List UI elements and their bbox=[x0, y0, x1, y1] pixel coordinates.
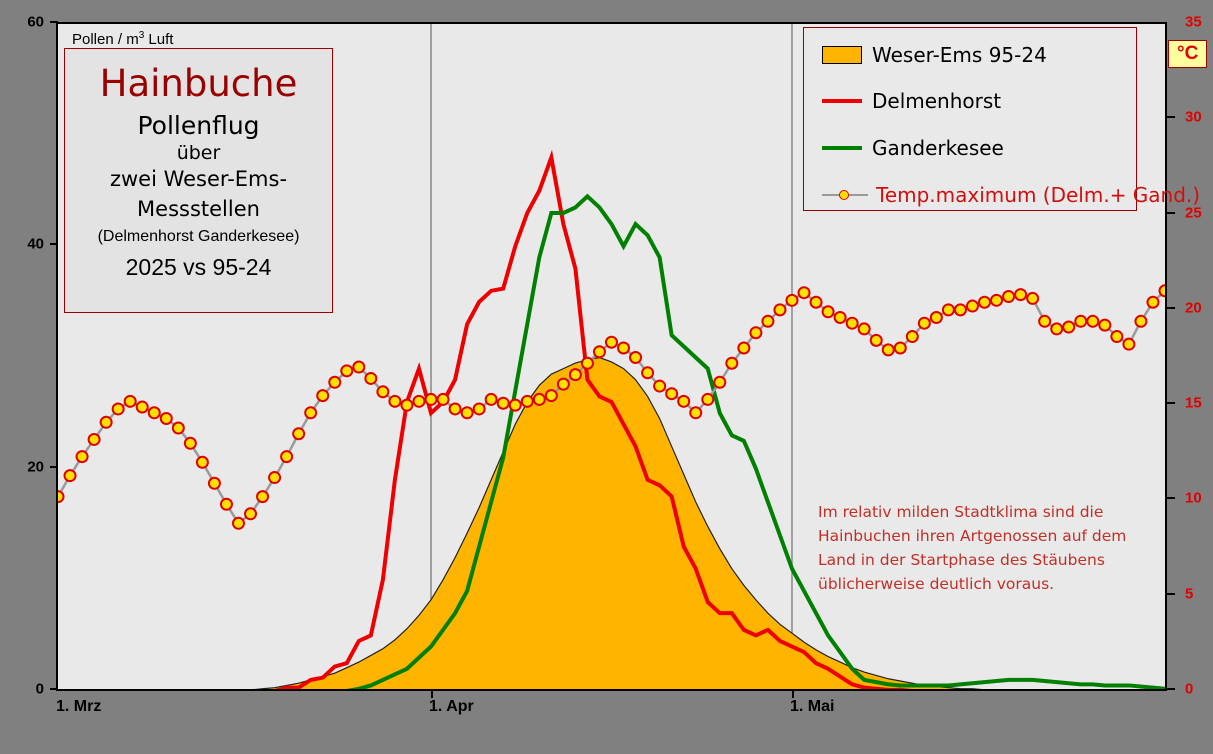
title-box: Hainbuche Pollenflug über zwei Weser-Ems… bbox=[64, 48, 333, 313]
y-axis-left-tick-label: 0 bbox=[36, 681, 44, 698]
title-subline-3: zwei Weser-Ems- bbox=[65, 167, 332, 191]
y-axis-right: 05101520253035 bbox=[1165, 0, 1213, 691]
units-caption: Pollen / m3 Luft bbox=[72, 30, 173, 48]
y-axis-right-tick bbox=[1167, 116, 1175, 118]
y-axis-right-tick bbox=[1167, 593, 1175, 595]
y-axis-right-tick-label: 0 bbox=[1185, 681, 1193, 698]
y-axis-right-tick-label: 10 bbox=[1185, 490, 1202, 507]
y-axis-left-tick-label: 60 bbox=[27, 14, 44, 31]
title-subline-1: Pollenflug bbox=[65, 111, 332, 140]
celsius-unit-badge: °C bbox=[1168, 40, 1207, 68]
y-axis-left-tick bbox=[50, 21, 58, 23]
x-axis-tick-label: 1. Mrz bbox=[56, 698, 101, 716]
legend-item-ganderkesee[interactable]: Ganderkesee bbox=[822, 135, 1004, 161]
y-axis-right-tick bbox=[1167, 688, 1175, 690]
title-subline-2: über bbox=[65, 142, 332, 164]
y-axis-left-tick-label: 40 bbox=[27, 236, 44, 253]
legend-label-weser-ems: Weser-Ems 95-24 bbox=[872, 43, 1047, 67]
title-subline-4: Messstellen bbox=[65, 197, 332, 221]
x-axis-tick-label: 1. Apr bbox=[429, 698, 474, 716]
y-axis-left-tick bbox=[50, 466, 58, 468]
y-axis-right-tick-label: 35 bbox=[1185, 14, 1202, 31]
y-axis-left-tick bbox=[50, 243, 58, 245]
line-swatch-icon-ganderkesee bbox=[822, 146, 862, 150]
y-axis-right-tick bbox=[1167, 212, 1175, 214]
annotation-text: Im relativ milden Stadtklima sind die Ha… bbox=[818, 500, 1126, 596]
y-axis-left-tick-label: 20 bbox=[27, 458, 44, 475]
units-prefix: Pollen / m bbox=[72, 31, 139, 48]
y-axis-right-tick-label: 20 bbox=[1185, 299, 1202, 316]
x-axis-tick bbox=[431, 691, 433, 698]
legend-label-delmenhorst: Delmenhorst bbox=[872, 89, 1001, 113]
x-axis-tick bbox=[792, 691, 794, 698]
y-axis-right-tick-label: 15 bbox=[1185, 395, 1202, 412]
legend-item-temperature[interactable]: Temp.maximum (Delm.+ Gand.) bbox=[822, 182, 1200, 208]
page-title: Hainbuche bbox=[65, 65, 332, 104]
line-swatch-icon-delmenhorst bbox=[822, 99, 862, 103]
title-subline-5: (Delmenhorst Ganderkesee) bbox=[65, 228, 332, 246]
title-subline-6: 2025 vs 95-24 bbox=[65, 254, 332, 281]
y-axis-left-tick bbox=[50, 688, 58, 690]
x-axis-spine bbox=[56, 689, 1167, 691]
legend-label-ganderkesee: Ganderkesee bbox=[872, 136, 1004, 160]
y-axis-right-tick bbox=[1167, 497, 1175, 499]
y-axis-left: 0204060 bbox=[0, 0, 58, 691]
y-axis-right-tick-label: 30 bbox=[1185, 109, 1202, 126]
y-axis-right-tick-label: 5 bbox=[1185, 585, 1193, 602]
legend-item-weser-ems[interactable]: Weser-Ems 95-24 bbox=[822, 42, 1047, 68]
legend: Weser-Ems 95-24 Delmenhorst Ganderkesee … bbox=[803, 27, 1137, 211]
legend-label-temperature: Temp.maximum (Delm.+ Gand.) bbox=[876, 183, 1200, 207]
marker-line-swatch-icon-temperature bbox=[822, 189, 868, 201]
y-axis-right-tick bbox=[1167, 402, 1175, 404]
legend-item-delmenhorst[interactable]: Delmenhorst bbox=[822, 88, 1001, 114]
area-swatch-icon bbox=[822, 46, 862, 64]
x-axis-tick-label: 1. Mai bbox=[790, 698, 834, 716]
y-axis-right-tick bbox=[1167, 307, 1175, 309]
chart-page: 0204060 05101520253035 °C 1. Mrz1. Apr1.… bbox=[0, 0, 1213, 754]
units-suffix: Luft bbox=[144, 31, 173, 48]
